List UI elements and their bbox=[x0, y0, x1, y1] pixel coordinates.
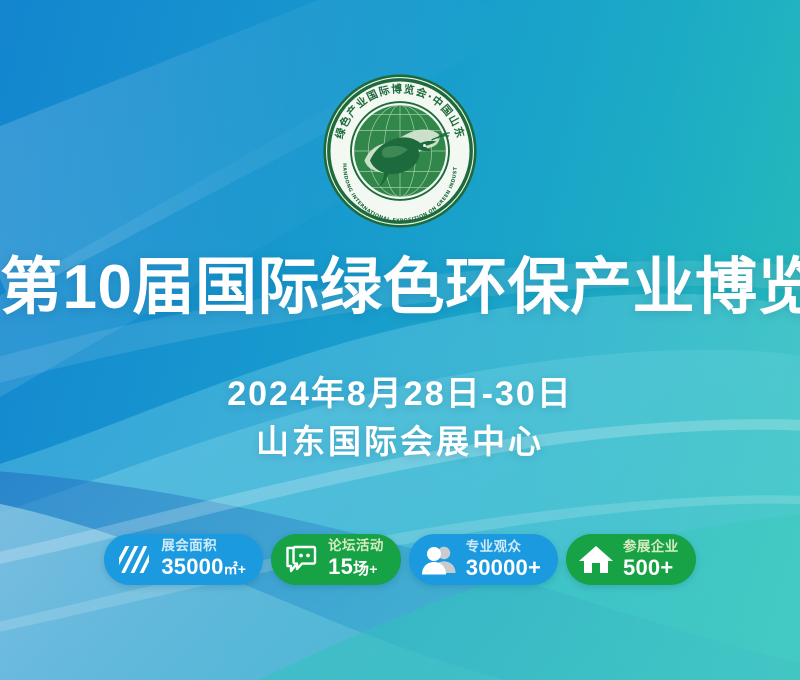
stat-label-area: 展会面积 bbox=[161, 538, 246, 554]
stat-pill-exhibitors[interactable]: 参展企业 500+ bbox=[566, 534, 696, 585]
banner-title: 第10届国际绿色环保产业博览会 bbox=[0, 252, 800, 324]
area-stripes-icon bbox=[116, 542, 152, 578]
stat-label-forums: 论坛活动 bbox=[328, 538, 384, 554]
stat-label-visitors: 专业观众 bbox=[466, 539, 541, 555]
stat-pill-forums[interactable]: 论坛活动 15场+ bbox=[271, 534, 401, 585]
emblem-container: 绿色产业国际博览会·中国山东 SHANDONG INTERNATIONAL EX… bbox=[0, 72, 800, 230]
stat-value-area: 35000㎡+ bbox=[161, 554, 246, 582]
event-venue: 山东国际会展中心 bbox=[0, 422, 800, 462]
stat-pill-visitors[interactable]: 专业观众 30000+ bbox=[409, 534, 558, 585]
stat-value-forums: 15场+ bbox=[328, 554, 384, 582]
people-icon bbox=[421, 542, 457, 578]
stat-label-exhibitors: 参展企业 bbox=[623, 539, 679, 555]
chat-bubbles-icon bbox=[283, 542, 319, 578]
stats-row: 展会面积 35000㎡+ 论坛活动 15场+ bbox=[0, 534, 800, 585]
stat-pill-area[interactable]: 展会面积 35000㎡+ bbox=[104, 534, 263, 585]
stat-value-visitors: 30000+ bbox=[466, 555, 541, 580]
green-industry-expo-emblem-icon: 绿色产业国际博览会·中国山东 SHANDONG INTERNATIONAL EX… bbox=[321, 72, 479, 230]
stat-value-exhibitors: 500+ bbox=[623, 555, 679, 580]
event-date: 2024年8月28日-30日 bbox=[0, 374, 800, 414]
expo-promo-banner: 绿色产业国际博览会·中国山东 SHANDONG INTERNATIONAL EX… bbox=[0, 0, 800, 680]
house-icon bbox=[578, 542, 614, 578]
